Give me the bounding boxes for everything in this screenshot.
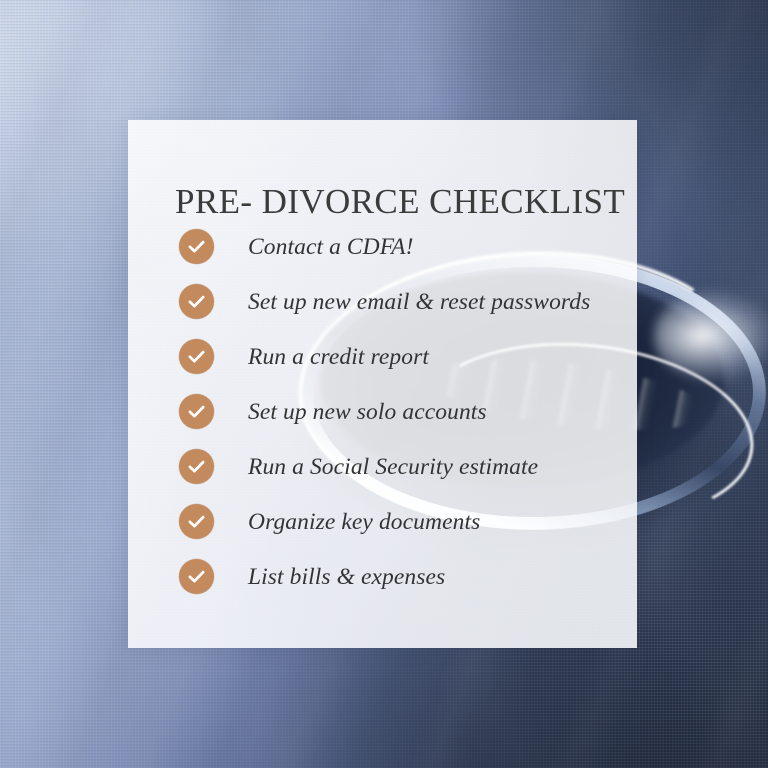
check-circle-icon[interactable] xyxy=(179,284,214,319)
checklist-item[interactable]: Set up new email & reset passwords xyxy=(179,274,629,329)
checklist-item-label: Run a credit report xyxy=(248,343,629,371)
checklist-item[interactable]: Set up new solo accounts xyxy=(179,384,629,439)
checklist-card: PRE- DIVORCE CHECKLIST Contact a CDFA! xyxy=(128,120,637,648)
checklist-item[interactable]: List bills & expenses xyxy=(179,549,629,604)
checklist-item-label: Set up new email & reset passwords xyxy=(248,288,629,316)
checklist-item[interactable]: Organize key documents xyxy=(179,494,629,549)
checklist: Contact a CDFA! Set up new email & reset… xyxy=(179,219,629,604)
ring-specular-flare xyxy=(654,290,768,382)
checklist-item-label: Run a Social Security estimate xyxy=(248,453,629,481)
check-circle-icon[interactable] xyxy=(179,504,214,539)
checklist-item[interactable]: Contact a CDFA! xyxy=(179,219,629,274)
check-circle-icon[interactable] xyxy=(179,449,214,484)
checklist-graphic: PRE- DIVORCE CHECKLIST Contact a CDFA! xyxy=(0,0,768,768)
checklist-item-label: Set up new solo accounts xyxy=(248,398,629,426)
checklist-item-label: Organize key documents xyxy=(248,508,629,536)
checklist-card-content: PRE- DIVORCE CHECKLIST Contact a CDFA! xyxy=(128,120,637,648)
check-circle-icon[interactable] xyxy=(179,339,214,374)
check-circle-icon[interactable] xyxy=(179,559,214,594)
page-title: PRE- DIVORCE CHECKLIST xyxy=(175,181,615,223)
check-circle-icon[interactable] xyxy=(179,229,214,264)
checklist-item[interactable]: Run a credit report xyxy=(179,329,629,384)
checklist-item-label: Contact a CDFA! xyxy=(248,233,629,261)
check-circle-icon[interactable] xyxy=(179,394,214,429)
checklist-item[interactable]: Run a Social Security estimate xyxy=(179,439,629,494)
checklist-item-label: List bills & expenses xyxy=(248,563,629,591)
